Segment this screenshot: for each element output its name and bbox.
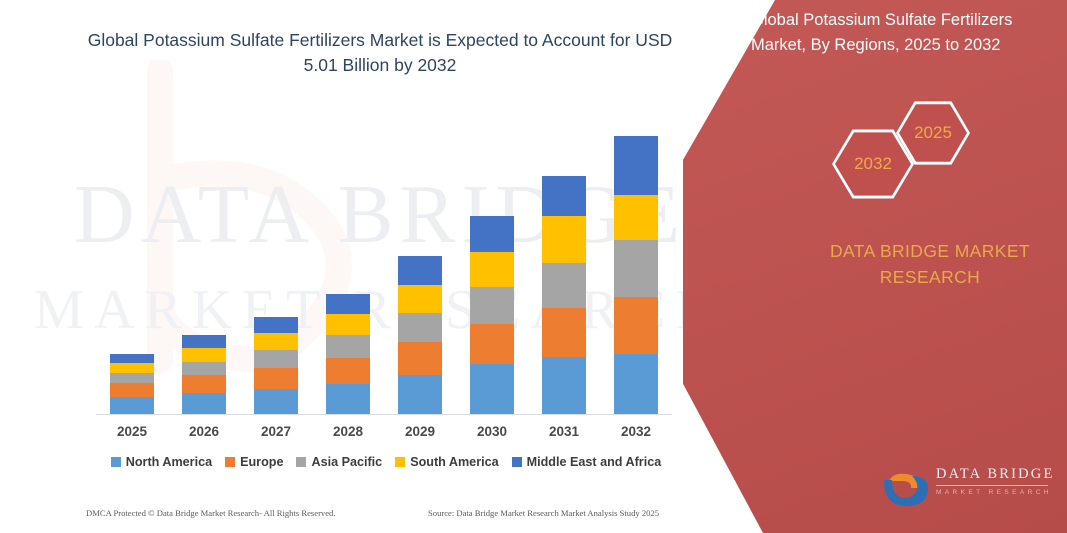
brand-line-2: RESEARCH [790, 264, 1067, 290]
company-logo: DATA BRIDGE MARKET RESEARCH [880, 462, 1060, 508]
chart-legend: North AmericaEuropeAsia PacificSouth Ame… [96, 455, 676, 469]
bar-2025 [110, 354, 154, 415]
segment-asia-pacific-2025 [110, 373, 154, 383]
brand-name: DATA BRIDGE MARKET RESEARCH [790, 238, 1067, 291]
segment-asia-pacific-2026 [182, 362, 226, 376]
segment-asia-pacific-2032 [614, 240, 658, 297]
x-axis-line [96, 414, 672, 415]
segment-north-america-2029 [398, 375, 442, 415]
bar-2029 [398, 256, 442, 415]
segment-south-america-2027 [254, 333, 298, 350]
segment-asia-pacific-2029 [398, 313, 442, 342]
segment-asia-pacific-2031 [542, 263, 586, 308]
stacked-bar-chart [96, 120, 672, 415]
hexagon-start-year-label: 2025 [899, 103, 967, 163]
segment-middle-east-and-africa-2029 [398, 256, 442, 286]
legend-item-north-america: North America [111, 455, 212, 469]
segment-europe-2030 [470, 324, 514, 365]
segment-north-america-2027 [254, 389, 298, 415]
segment-south-america-2032 [614, 195, 658, 240]
logo-title: DATA BRIDGE [936, 466, 1055, 483]
right-panel-title: Global Potassium Sulfate Fertilizers Mar… [737, 8, 1067, 58]
legend-swatch-icon [296, 457, 306, 467]
hexagon-badges: 2032 2025 [820, 100, 1020, 210]
legend-item-europe: Europe [225, 455, 283, 469]
segment-middle-east-and-africa-2031 [542, 176, 586, 216]
brand-line-1: DATA BRIDGE MARKET [790, 238, 1067, 264]
hexagon-end-year-label: 2032 [835, 131, 911, 197]
segment-europe-2029 [398, 342, 442, 375]
x-tick-2031: 2031 [534, 424, 594, 439]
bar-2030 [470, 216, 514, 415]
legend-swatch-icon [512, 457, 522, 467]
x-tick-2026: 2026 [174, 424, 234, 439]
segment-asia-pacific-2028 [326, 335, 370, 357]
footer-source: Source: Data Bridge Market Research Mark… [428, 508, 659, 518]
legend-item-middle-east-and-africa: Middle East and Africa [512, 455, 662, 469]
x-axis-tick-labels: 20252026202720282029203020312032 [96, 424, 672, 446]
segment-middle-east-and-africa-2026 [182, 335, 226, 347]
footer-copyright: DMCA Protected © Data Bridge Market Rese… [86, 508, 336, 518]
legend-label: Asia Pacific [311, 455, 382, 469]
infographic-canvas: DATA BRIDGE MARKET RESEARCH Global Potas… [0, 0, 1067, 533]
bar-2028 [326, 294, 370, 415]
x-tick-2028: 2028 [318, 424, 378, 439]
segment-europe-2031 [542, 308, 586, 357]
legend-label: Middle East and Africa [527, 455, 662, 469]
segment-north-america-2025 [110, 397, 154, 415]
segment-europe-2026 [182, 375, 226, 392]
segment-south-america-2028 [326, 314, 370, 336]
page-title: Global Potassium Sulfate Fertilizers Mar… [70, 28, 690, 79]
bar-2026 [182, 335, 226, 415]
segment-asia-pacific-2027 [254, 350, 298, 368]
legend-swatch-icon [225, 457, 235, 467]
segment-south-america-2026 [182, 348, 226, 362]
segment-europe-2028 [326, 358, 370, 384]
segment-middle-east-and-africa-2028 [326, 294, 370, 313]
bar-2027 [254, 317, 298, 415]
logo-subtitle: MARKET RESEARCH [936, 489, 1055, 496]
x-tick-2025: 2025 [102, 424, 162, 439]
x-tick-2032: 2032 [606, 424, 666, 439]
segment-middle-east-and-africa-2027 [254, 317, 298, 333]
legend-item-south-america: South America [395, 455, 498, 469]
x-tick-2029: 2029 [390, 424, 450, 439]
segment-middle-east-and-africa-2025 [110, 354, 154, 363]
segment-north-america-2026 [182, 393, 226, 415]
logo-text: DATA BRIDGE MARKET RESEARCH [936, 466, 1055, 496]
segment-europe-2025 [110, 383, 154, 396]
logo-divider [936, 485, 1048, 486]
segment-europe-2032 [614, 297, 658, 354]
segment-middle-east-and-africa-2030 [470, 216, 514, 252]
segment-south-america-2031 [542, 216, 586, 263]
data-bridge-mark-icon [880, 462, 934, 508]
legend-swatch-icon [395, 457, 405, 467]
segment-middle-east-and-africa-2032 [614, 136, 658, 194]
segment-europe-2027 [254, 368, 298, 389]
legend-label: Europe [240, 455, 283, 469]
footer: DMCA Protected © Data Bridge Market Rese… [0, 508, 720, 528]
segment-asia-pacific-2030 [470, 287, 514, 324]
segment-north-america-2030 [470, 364, 514, 415]
bar-2031 [542, 176, 586, 415]
x-tick-2030: 2030 [462, 424, 522, 439]
segment-north-america-2028 [326, 384, 370, 415]
legend-label: North America [126, 455, 212, 469]
legend-label: South America [410, 455, 498, 469]
segment-north-america-2031 [542, 357, 586, 415]
legend-item-asia-pacific: Asia Pacific [296, 455, 382, 469]
segment-south-america-2030 [470, 252, 514, 287]
x-tick-2027: 2027 [246, 424, 306, 439]
segment-south-america-2025 [110, 363, 154, 374]
segment-south-america-2029 [398, 285, 442, 313]
bar-2032 [614, 136, 658, 415]
segment-north-america-2032 [614, 354, 658, 415]
legend-swatch-icon [111, 457, 121, 467]
